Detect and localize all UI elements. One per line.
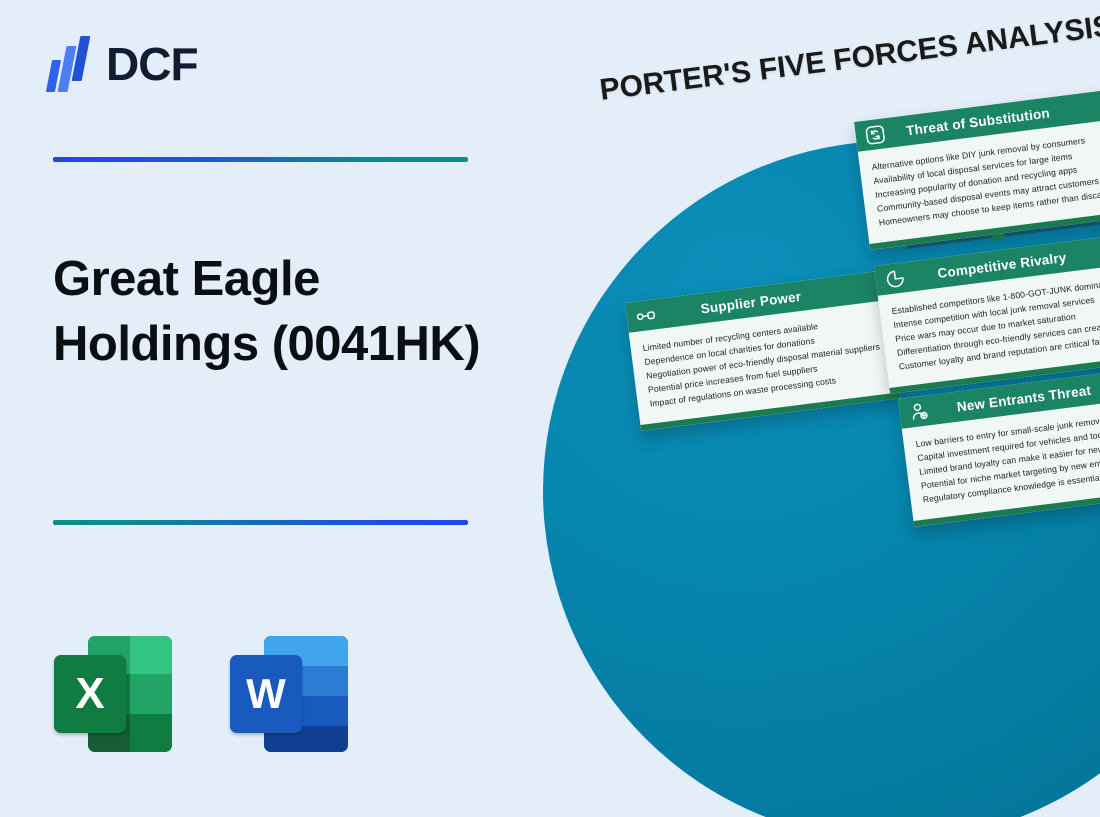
word-letter: W xyxy=(230,655,302,733)
pie-chart-icon xyxy=(883,267,906,290)
excel-letter: X xyxy=(54,655,126,733)
porters-five-forces-heading: PORTER'S FIVE FORCES ANALYSIS xyxy=(598,9,1100,108)
word-icon[interactable]: W xyxy=(226,630,354,758)
poster-canvas: DCF Great Eagle Holdings (0041HK) X W PO… xyxy=(0,0,1100,817)
excel-icon[interactable]: X xyxy=(50,630,178,758)
page-title: Great Eagle Holdings (0041HK) xyxy=(53,247,483,376)
dcf-bars-logo-icon xyxy=(48,36,92,92)
link-chain-icon xyxy=(634,304,657,327)
divider-bottom xyxy=(53,520,468,525)
divider-top xyxy=(53,157,468,162)
export-format-icons: X W xyxy=(50,630,354,758)
brand-logo[interactable]: DCF xyxy=(48,36,198,92)
person-add-icon xyxy=(907,400,930,423)
brand-name: DCF xyxy=(106,41,198,87)
refresh-cycle-icon xyxy=(863,123,886,146)
